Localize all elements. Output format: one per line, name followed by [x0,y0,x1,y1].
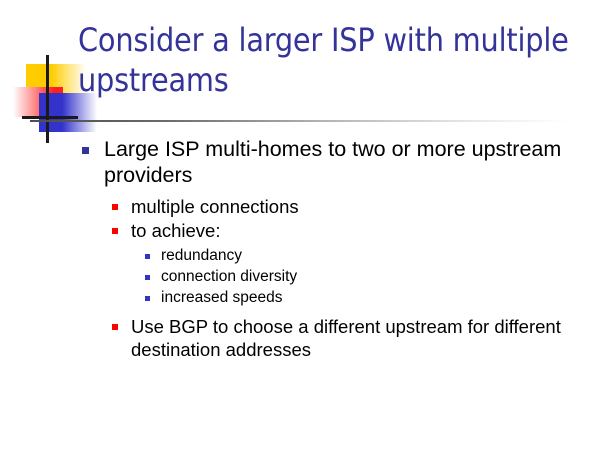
bullet-square-icon [112,324,118,330]
list-item-label: redundancy [161,246,242,266]
bullet-square-icon [145,275,150,280]
slide-title: Consider a larger ISP with multiple upst… [78,20,578,100]
list-item: connection diversity [0,267,600,287]
logo-vertical-line-icon [46,55,49,143]
title-divider [30,120,570,122]
bullet-square-icon [112,228,118,234]
bullet-square-icon [145,254,150,259]
slide-canvas: Consider a larger ISP with multiple upst… [0,0,600,450]
list-item-label: increased speeds [161,288,283,308]
list-item: multiple connections [0,195,600,218]
list-item-label: Large ISP multi-homes to two or more ups… [104,136,574,188]
list-item-label: to achieve: [131,219,220,242]
bullet-square-icon [82,147,89,154]
list-item: Use BGP to choose a different upstream f… [0,315,600,361]
list-item: Large ISP multi-homes to two or more ups… [0,136,600,188]
list-item-label: multiple connections [131,195,299,218]
bullet-list: Large ISP multi-homes to two or more ups… [0,136,600,362]
bullet-square-icon [145,296,150,301]
list-item: increased speeds [0,288,600,308]
list-item: to achieve: [0,219,600,242]
logo-horizontal-line-icon [22,116,78,119]
list-item-label: connection diversity [161,267,297,287]
list-item-label: Use BGP to choose a different upstream f… [131,315,600,361]
list-item: redundancy [0,246,600,266]
bullet-square-icon [112,204,118,210]
